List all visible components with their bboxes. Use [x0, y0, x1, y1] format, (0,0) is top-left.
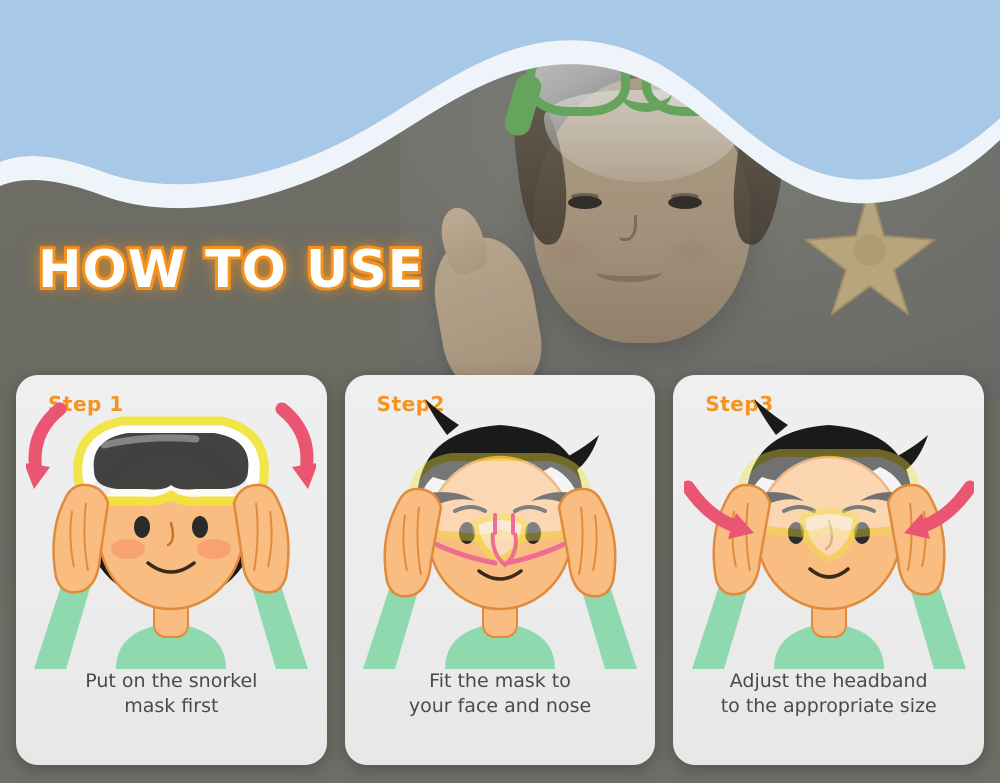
step-3-caption-line1: Adjust the headband [730, 670, 928, 692]
step-3-caption: Adjust the headband to the appropriate s… [673, 669, 984, 719]
step-card-3[interactable]: Step3 [673, 375, 984, 765]
girl-smile [596, 262, 662, 282]
step-3-caption-line2: to the appropriate size [687, 694, 970, 719]
step-card-1[interactable]: Step 1 [16, 375, 327, 765]
snorkel-mask-above-head [78, 421, 265, 501]
page-title: HOW TO USE [38, 240, 424, 300]
step-1-illustration [16, 391, 327, 669]
poster-stage: HOW TO USE Step 1 [0, 0, 1000, 783]
step-1-caption-line1: Put on the snorkel [85, 670, 257, 692]
arrow-down-left-icon [26, 409, 60, 489]
step-card-2[interactable]: Step2 [345, 375, 656, 765]
arrow-down-right-icon [282, 409, 316, 489]
step-2-caption-line2: your face and nose [359, 694, 642, 719]
step-1-caption-line2: mask first [30, 694, 313, 719]
step-2-caption: Fit the mask to your face and nose [345, 669, 656, 719]
step-1-caption: Put on the snorkel mask first [16, 669, 327, 719]
step-2-caption-line1: Fit the mask to [429, 670, 571, 692]
step-2-illustration [345, 391, 656, 669]
steps-container: Step 1 [16, 375, 984, 765]
wave-divider [0, 0, 1000, 260]
wave-blue-fill [0, 0, 1000, 184]
step-3-illustration [673, 391, 984, 669]
